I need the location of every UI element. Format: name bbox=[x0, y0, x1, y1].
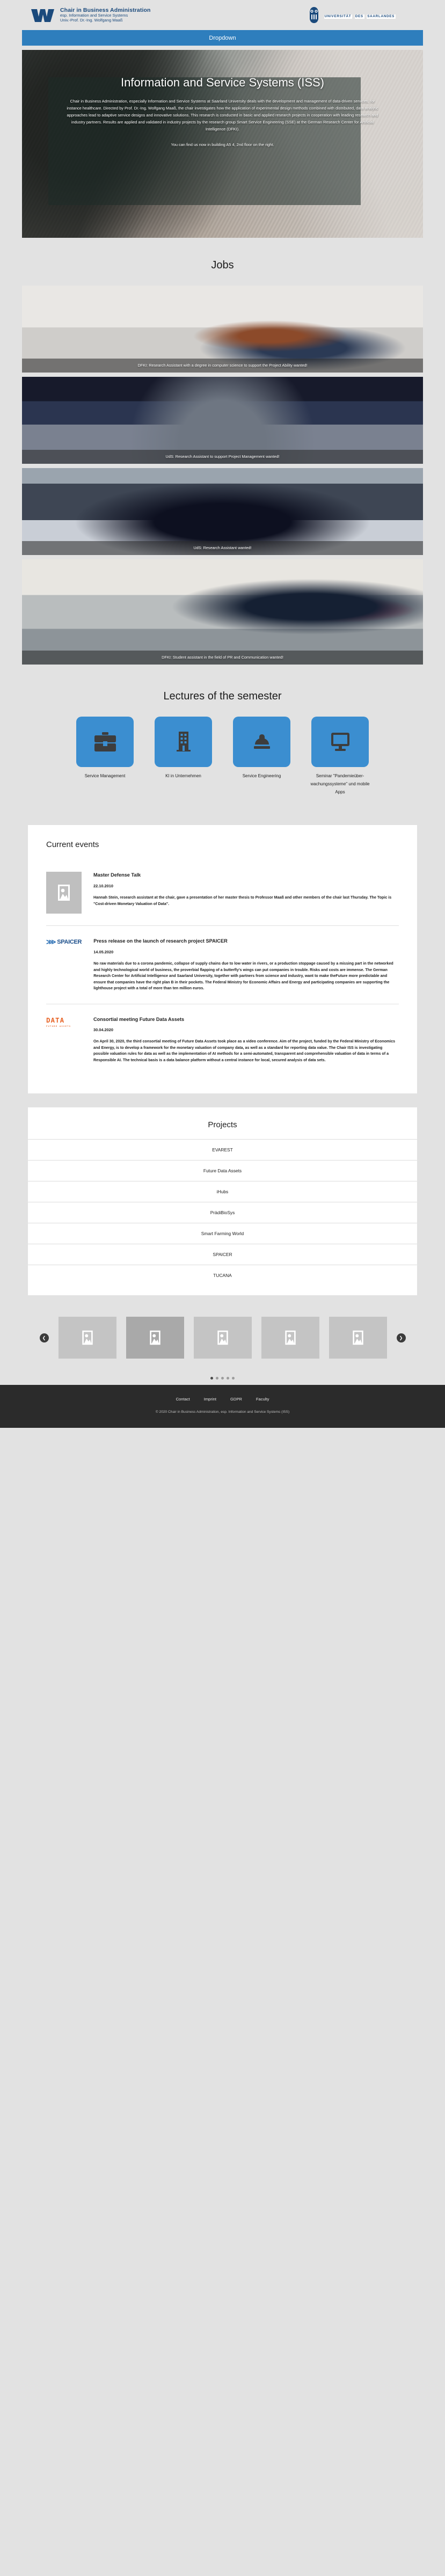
lecture-service-management[interactable]: Service Management bbox=[72, 717, 138, 796]
projects-card: Projects EVAREST Future Data Assets iHub… bbox=[28, 1107, 417, 1295]
event-date: 14.05.2020 bbox=[93, 950, 399, 954]
event-text: Hannah Stein, research assistant at the … bbox=[93, 895, 399, 907]
carousel-item[interactable] bbox=[59, 1317, 116, 1359]
carousel-dot[interactable] bbox=[210, 1377, 213, 1380]
event-thumb bbox=[46, 872, 82, 914]
lecture-label: KI in Unternehmen bbox=[150, 772, 217, 780]
chevron-left-icon[interactable]: ❮ bbox=[40, 1333, 49, 1342]
event-date: 22.10.2010 bbox=[93, 884, 399, 888]
partner-carousel: ❮ bbox=[0, 1295, 445, 1377]
spaicer-wordmark: SPAICER bbox=[57, 939, 82, 945]
job-caption: UdS: Research Assistant to support Proje… bbox=[22, 450, 423, 464]
project-row[interactable]: Smart Farming World bbox=[28, 1223, 417, 1244]
lectures-list: Service Management KI in Unternehmen bbox=[0, 717, 445, 801]
site-footer: Contact Imprint GDPR Faculty © 2020 Chai… bbox=[0, 1385, 445, 1428]
spaicer-mark: ⋙ bbox=[46, 938, 56, 946]
footer-link-faculty[interactable]: Faculty bbox=[256, 1397, 269, 1402]
event-date: 30.04.2020 bbox=[93, 1027, 399, 1032]
hero-note: You can find us now in building A5 4, 2n… bbox=[65, 142, 380, 149]
carousel-dots bbox=[0, 1377, 445, 1385]
spaicer-logo: ⋙ SPAICER bbox=[46, 938, 82, 946]
job-caption: UdS: Research Assistant wanted! bbox=[22, 541, 423, 555]
event-thumb: DATA FUTURE ASSETS bbox=[46, 1016, 82, 1064]
university-brand[interactable]: UNIVERSITÄT DES SAARLANDES bbox=[307, 6, 396, 24]
image-placeholder-icon bbox=[46, 872, 82, 914]
lecture-tile[interactable] bbox=[76, 717, 134, 767]
carousel-item[interactable] bbox=[194, 1317, 252, 1359]
job-caption: DFKI: Research Assistant with a degree i… bbox=[22, 359, 423, 373]
events-title: Current events bbox=[46, 840, 399, 849]
project-row[interactable]: Future Data Assets bbox=[28, 1160, 417, 1181]
site-header: Chair in Business Administration esp. In… bbox=[0, 0, 445, 27]
hero-banner: Information and Service Systems (ISS) Ch… bbox=[22, 50, 423, 238]
event-title: Master Defense Talk bbox=[93, 872, 399, 879]
uni-line-2: DES bbox=[355, 14, 364, 19]
data-sub-wordmark: FUTURE ASSETS bbox=[46, 1025, 82, 1027]
carousel-dot[interactable] bbox=[227, 1377, 229, 1380]
lectures-section-title: Lectures of the semester bbox=[0, 669, 445, 717]
footer-copyright: © 2020 Chair in Business Administration,… bbox=[0, 1410, 445, 1414]
carousel-dot[interactable] bbox=[216, 1377, 218, 1380]
lecture-seminar[interactable]: Seminar "Pandemieüber-wachungssysteme" u… bbox=[307, 717, 374, 796]
footer-links: Contact Imprint GDPR Faculty bbox=[0, 1397, 445, 1402]
uni-line-1: UNIVERSITÄT bbox=[324, 14, 353, 19]
lecture-label: Service Engineering bbox=[229, 772, 295, 780]
projects-container: Projects EVAREST Future Data Assets iHub… bbox=[0, 1093, 445, 1295]
carousel-dot[interactable] bbox=[232, 1377, 235, 1380]
hard-hat-icon bbox=[250, 731, 274, 753]
event-item[interactable]: ⋙ SPAICER Press release on the launch of… bbox=[46, 925, 399, 1003]
footer-link-imprint[interactable]: Imprint bbox=[204, 1397, 216, 1402]
carousel-item[interactable] bbox=[329, 1317, 387, 1359]
carousel-item[interactable] bbox=[261, 1317, 319, 1359]
project-row[interactable]: SPAICER bbox=[28, 1244, 417, 1265]
event-thumb: ⋙ SPAICER bbox=[46, 938, 82, 991]
job-card[interactable]: DFKI: Research Assistant with a degree i… bbox=[22, 286, 423, 373]
event-title: Consortial meeting Future Data Assets bbox=[93, 1016, 399, 1024]
lecture-ki-in-unternehmen[interactable]: KI in Unternehmen bbox=[150, 717, 217, 796]
carousel-item[interactable] bbox=[126, 1317, 184, 1359]
job-card[interactable]: DFKI: Student assistant in the field of … bbox=[22, 559, 423, 665]
uni-line-3: SAARLANDES bbox=[367, 14, 396, 19]
lecture-tile[interactable] bbox=[233, 717, 290, 767]
main-navbar[interactable]: Dropdown bbox=[22, 30, 423, 46]
header-brand[interactable]: Chair in Business Administration esp. In… bbox=[30, 6, 151, 24]
event-text: On April 30, 2020, the third consortial … bbox=[93, 1039, 399, 1063]
hero-paragraph: Chair in Business Administration, especi… bbox=[65, 98, 380, 133]
projects-title: Projects bbox=[28, 1120, 417, 1139]
header-professor: Univ.-Prof. Dr.-Ing. Wolfgang Maaß bbox=[60, 18, 151, 23]
navbar-container: Dropdown bbox=[0, 27, 445, 46]
job-card[interactable]: UdS: Research Assistant wanted! bbox=[22, 468, 423, 555]
data-logo: DATA FUTURE ASSETS bbox=[46, 1016, 82, 1027]
lecture-tile[interactable] bbox=[155, 717, 212, 767]
lecture-label: Service Management bbox=[72, 772, 138, 780]
hero-container: Information and Service Systems (ISS) Ch… bbox=[0, 46, 445, 238]
event-title: Press release on the launch of research … bbox=[93, 938, 399, 945]
owl-icon bbox=[307, 6, 321, 24]
events-container: Current events Master Defense Talk 22 bbox=[0, 801, 445, 1093]
job-caption: DFKI: Student assistant in the field of … bbox=[22, 651, 423, 665]
nav-dropdown-label[interactable]: Dropdown bbox=[209, 35, 236, 41]
data-wordmark: DATA bbox=[46, 1016, 64, 1024]
project-row[interactable]: EVAREST bbox=[28, 1139, 417, 1160]
event-item[interactable]: DATA FUTURE ASSETS Consortial meeting Fu… bbox=[46, 1004, 399, 1076]
image-placeholder-icon bbox=[283, 1330, 297, 1346]
jobs-section-title: Jobs bbox=[0, 238, 445, 286]
job-card[interactable]: UdS: Research Assistant to support Proje… bbox=[22, 377, 423, 464]
monitor-icon bbox=[328, 731, 353, 753]
footer-link-contact[interactable]: Contact bbox=[176, 1397, 190, 1402]
image-placeholder-icon bbox=[81, 1330, 94, 1346]
event-item[interactable]: Master Defense Talk 22.10.2010 Hannah St… bbox=[46, 870, 399, 925]
project-row[interactable]: TUCANA bbox=[28, 1265, 417, 1286]
image-placeholder-icon bbox=[216, 1330, 230, 1346]
project-row[interactable]: PrädiBioSys bbox=[28, 1202, 417, 1223]
office-building-icon bbox=[171, 731, 196, 753]
page-root: Chair in Business Administration esp. In… bbox=[0, 0, 445, 1428]
image-placeholder-icon bbox=[148, 1330, 162, 1346]
carousel-dot[interactable] bbox=[221, 1377, 224, 1380]
uds-w-logo bbox=[30, 6, 55, 24]
briefcase-icon bbox=[93, 731, 118, 753]
event-text: No raw materials due to a corona pandemi… bbox=[93, 961, 399, 991]
events-card: Current events Master Defense Talk 22 bbox=[28, 825, 417, 1093]
lecture-service-engineering[interactable]: Service Engineering bbox=[229, 717, 295, 796]
lecture-label: Seminar "Pandemieüber-wachungssysteme" u… bbox=[307, 772, 374, 796]
footer-link-gdpr[interactable]: GDPR bbox=[230, 1397, 242, 1402]
image-placeholder-icon bbox=[351, 1330, 365, 1346]
hero-title: Information and Service Systems (ISS) bbox=[65, 76, 380, 90]
project-row[interactable]: iHubs bbox=[28, 1181, 417, 1202]
jobs-list: DFKI: Research Assistant with a degree i… bbox=[0, 286, 445, 665]
lecture-tile[interactable] bbox=[311, 717, 369, 767]
chevron-right-icon[interactable]: ❯ bbox=[397, 1333, 406, 1342]
